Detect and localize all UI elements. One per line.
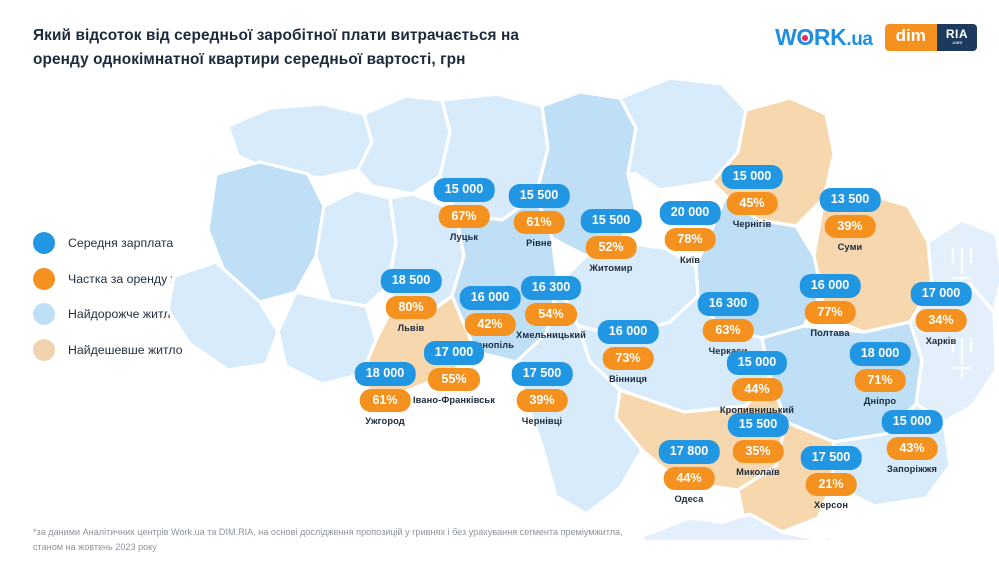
- rent-share-badge: 42%: [464, 313, 515, 337]
- city-label: Київ: [680, 255, 700, 265]
- legend-swatch-most-expensive: [33, 303, 55, 325]
- salary-badge: 17 000: [911, 282, 972, 306]
- salary-badge: 18 000: [355, 362, 416, 386]
- legend-swatch-cheapest: [33, 339, 55, 361]
- city-marker[interactable]: 17 80044%Одеса: [659, 440, 720, 504]
- workua-logo-dot: [802, 35, 808, 41]
- city-label: Чернігів: [733, 219, 772, 229]
- city-label: Дніпро: [864, 396, 896, 406]
- city-label: Вінниця: [609, 374, 647, 384]
- city-label: Хмельницький: [516, 330, 586, 340]
- workua-logo[interactable]: WORK.ua: [775, 24, 873, 51]
- city-label: Луцьк: [450, 232, 478, 242]
- rent-share-badge: 39%: [516, 389, 567, 413]
- rent-share-badge: 44%: [663, 467, 714, 491]
- city-label: Одеса: [675, 494, 704, 504]
- city-marker[interactable]: 16 30063%Черкаси: [698, 292, 759, 356]
- salary-badge: 15 000: [727, 351, 788, 375]
- rent-share-badge: 67%: [438, 205, 489, 229]
- city-marker[interactable]: 17 00055%Івано-Франківськ: [413, 341, 495, 405]
- rent-share-badge: 61%: [359, 389, 410, 413]
- city-label: Полтава: [810, 328, 849, 338]
- city-marker[interactable]: 15 00045%Чернігів: [722, 165, 783, 229]
- rent-share-badge: 80%: [385, 296, 436, 320]
- ukraine-map: 15 00067%Луцьк15 50061%Рівне15 50052%Жит…: [150, 70, 999, 540]
- rent-share-badge: 55%: [428, 368, 479, 392]
- salary-badge: 15 000: [882, 410, 943, 434]
- city-marker[interactable]: 20 00078%Київ: [660, 201, 721, 265]
- city-marker[interactable]: 16 00073%Вінниця: [598, 320, 659, 384]
- rent-share-badge: 34%: [915, 309, 966, 333]
- workua-logo-rk: RK: [814, 24, 846, 51]
- dim-badge: dim: [885, 24, 937, 51]
- legend-swatch-rent-share: [33, 268, 55, 290]
- city-label: Івано-Франківськ: [413, 395, 495, 405]
- salary-badge: 17 000: [424, 341, 485, 365]
- rent-share-badge: 78%: [664, 228, 715, 252]
- rent-share-badge: 77%: [804, 301, 855, 325]
- city-label: Рівне: [526, 238, 552, 248]
- workua-logo-ua: .ua: [846, 29, 872, 51]
- workua-logo-o: O: [796, 24, 814, 51]
- ria-badge-sub: .com: [952, 41, 963, 46]
- salary-badge: 18 000: [850, 342, 911, 366]
- dimria-logo[interactable]: dim RIA .com: [885, 24, 977, 51]
- rent-share-badge: 73%: [602, 347, 653, 371]
- city-marker[interactable]: 16 00077%Полтава: [800, 274, 861, 338]
- rent-share-badge: 54%: [525, 303, 576, 327]
- city-marker[interactable]: 15 50061%Рівне: [509, 184, 570, 248]
- city-label: Запоріжжя: [887, 464, 937, 474]
- page-title: Який відсоток від середньої заробітної п…: [33, 24, 553, 72]
- city-marker[interactable]: 17 50021%Херсон: [801, 446, 862, 510]
- salary-badge: 15 000: [434, 178, 495, 202]
- city-label: Миколаїв: [736, 467, 780, 477]
- salary-badge: 17 500: [512, 362, 573, 386]
- salary-badge: 16 300: [521, 276, 582, 300]
- salary-badge: 16 000: [460, 286, 521, 310]
- city-marker[interactable]: 15 00044%Кропивницький: [720, 351, 794, 415]
- rent-share-badge: 61%: [513, 211, 564, 235]
- salary-badge: 17 500: [801, 446, 862, 470]
- logo-group: WORK.ua dim RIA .com: [775, 24, 977, 51]
- salary-badge: 15 500: [581, 209, 642, 233]
- city-marker[interactable]: 17 50039%Чернівці: [512, 362, 573, 426]
- salary-badge: 18 500: [381, 269, 442, 293]
- city-marker[interactable]: 15 50035%Миколаїв: [728, 413, 789, 477]
- footnote: *за даними Аналітичних центрів Work.ua т…: [33, 525, 633, 556]
- salary-badge: 13 500: [820, 188, 881, 212]
- city-marker[interactable]: 18 00071%Дніпро: [850, 342, 911, 406]
- salary-badge: 16 000: [800, 274, 861, 298]
- salary-badge: 15 500: [509, 184, 570, 208]
- city-label: Чернівці: [522, 416, 562, 426]
- salary-badge: 20 000: [660, 201, 721, 225]
- salary-badge: 16 300: [698, 292, 759, 316]
- city-label: Херсон: [814, 500, 848, 510]
- salary-badge: 15 000: [722, 165, 783, 189]
- city-marker[interactable]: 13 50039%Суми: [820, 188, 881, 252]
- city-marker[interactable]: 15 50052%Житомир: [581, 209, 642, 273]
- legend-swatch-salary: [33, 232, 55, 254]
- rent-share-badge: 44%: [731, 378, 782, 402]
- city-marker[interactable]: 16 30054%Хмельницький: [516, 276, 586, 340]
- rent-share-badge: 71%: [854, 369, 905, 393]
- city-marker[interactable]: 17 00034%Харків: [911, 282, 972, 346]
- salary-badge: 15 500: [728, 413, 789, 437]
- rent-share-badge: 45%: [726, 192, 777, 216]
- city-marker[interactable]: 15 00067%Луцьк: [434, 178, 495, 242]
- ria-badge: RIA .com: [937, 24, 977, 51]
- rent-share-badge: 39%: [824, 215, 875, 239]
- rent-share-badge: 52%: [585, 236, 636, 260]
- rent-share-badge: 35%: [732, 440, 783, 464]
- infographic-root: Який відсоток від середньої заробітної п…: [0, 0, 999, 574]
- city-label: Харків: [926, 336, 957, 346]
- workua-logo-text: W: [775, 24, 796, 51]
- rent-share-badge: 43%: [886, 437, 937, 461]
- salary-badge: 16 000: [598, 320, 659, 344]
- city-label: Суми: [838, 242, 863, 252]
- rent-share-badge: 21%: [805, 473, 856, 497]
- city-marker[interactable]: 18 00061%Ужгород: [355, 362, 416, 426]
- rent-share-badge: 63%: [702, 319, 753, 343]
- city-marker[interactable]: 15 00043%Запоріжжя: [882, 410, 943, 474]
- city-label: Ужгород: [365, 416, 405, 426]
- salary-badge: 17 800: [659, 440, 720, 464]
- city-label: Львів: [398, 323, 425, 333]
- city-label: Житомир: [589, 263, 632, 273]
- ria-badge-text: RIA: [946, 28, 968, 40]
- city-marker[interactable]: 18 50080%Львів: [381, 269, 442, 333]
